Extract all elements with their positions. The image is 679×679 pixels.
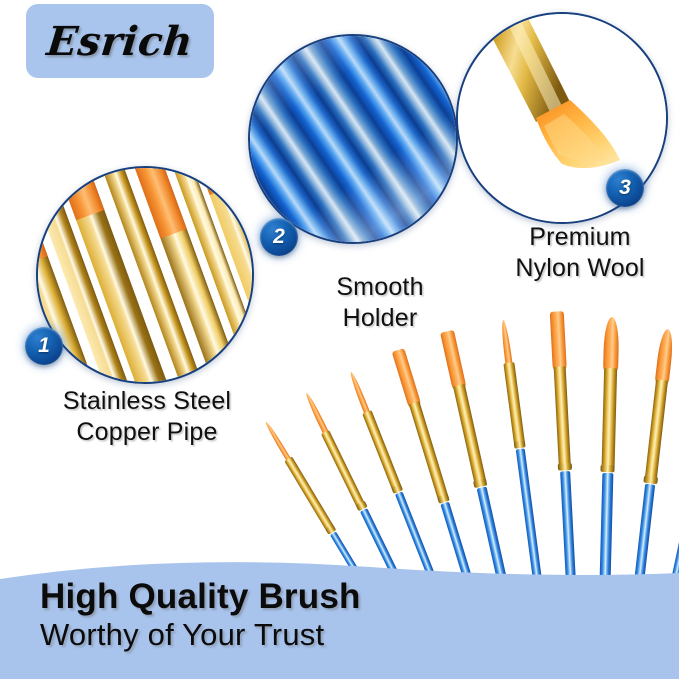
brush-ferrule <box>362 410 403 494</box>
brush-bristles <box>440 330 466 390</box>
brush-bristles <box>550 311 567 370</box>
banner-subheadline: Worthy of Your Trust <box>40 617 470 653</box>
brush-bristles <box>391 348 420 407</box>
feature-circle-1 <box>36 166 254 384</box>
brush-ferrule <box>644 379 668 484</box>
feature-badge-3: 3 <box>606 169 644 207</box>
brush-crimp-ring <box>600 465 614 472</box>
brush-ferrule <box>553 366 571 471</box>
brush-ferrule <box>453 384 487 488</box>
bottom-banner: High Quality Brush Worthy of Your Trust <box>0 551 679 679</box>
feature-badge-2: 2 <box>260 218 298 256</box>
brand-name: Esrich <box>45 18 196 65</box>
brush-ferrule <box>503 362 525 449</box>
feature-label-1: Stainless Steel Copper Pipe <box>22 386 272 447</box>
brush-bristles <box>348 371 371 416</box>
banner-headline: High Quality Brush <box>40 577 470 616</box>
brush-ferrule <box>284 456 336 534</box>
brush-ferrule <box>601 368 617 472</box>
macro-handles-image <box>250 36 456 242</box>
brush-crimp-ring <box>558 463 572 471</box>
feature-label-3: Premium Nylon Wool <box>480 222 679 283</box>
feature-circle-2 <box>248 34 458 244</box>
brush-bristles <box>499 320 512 367</box>
brush-bristles <box>655 328 675 383</box>
product-feature-poster: Esrich <box>0 0 679 679</box>
brush-ferrule <box>408 401 449 504</box>
brush-crimp-ring <box>644 476 658 484</box>
feature-badge-1: 1 <box>25 327 63 365</box>
brand-logo: Esrich <box>26 4 214 78</box>
brush-ferrule <box>321 430 367 511</box>
brush-bristles <box>603 317 620 371</box>
brush-bristles <box>304 392 330 436</box>
brush-crimp-ring <box>513 440 525 448</box>
macro-ferrules-image <box>38 168 252 382</box>
